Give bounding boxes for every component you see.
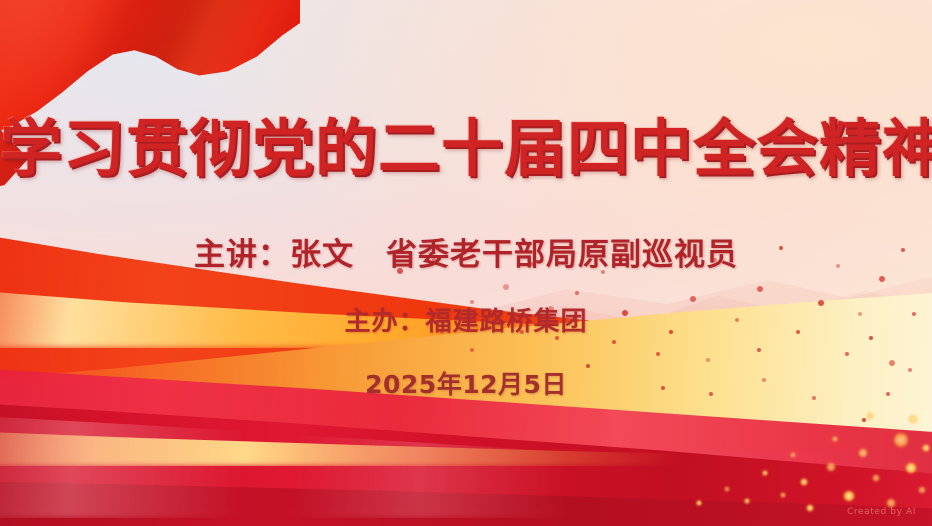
poster-text-block: 学习贯彻党的二十届四中全会精神 主讲：张文 省委老干部局原副巡视员 主办：福建路… (0, 0, 932, 526)
event-date: 2025年12月5日 (0, 369, 932, 400)
organizer-line: 主办：福建路桥集团 (0, 306, 932, 339)
poster-title: 学习贯彻党的二十届四中全会精神 (0, 118, 932, 180)
event-poster: 学习贯彻党的二十届四中全会精神 主讲：张文 省委老干部局原副巡视员 主办：福建路… (0, 0, 932, 526)
presenter-line: 主讲：张文 省委老干部局原副巡视员 (0, 236, 932, 275)
